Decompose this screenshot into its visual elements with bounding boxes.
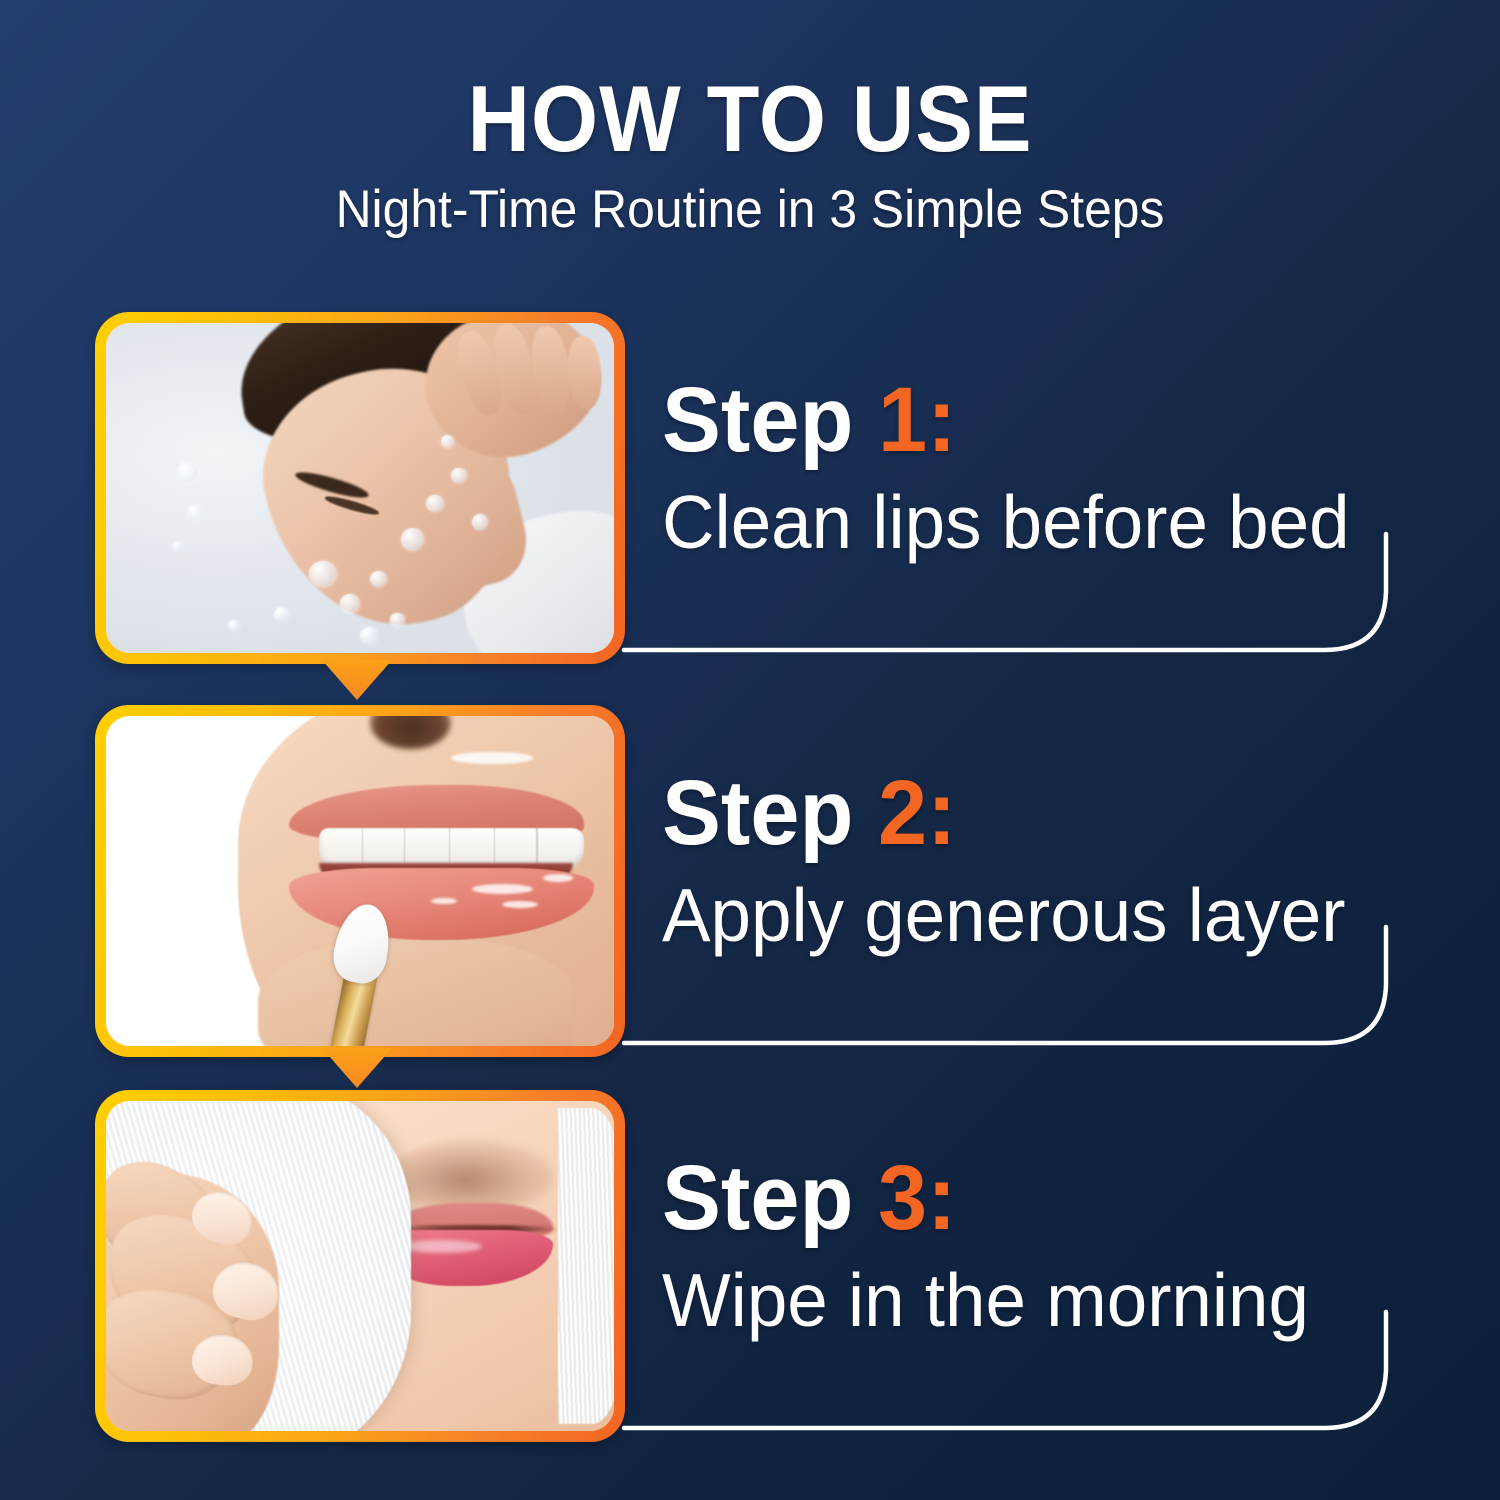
step-2-photo bbox=[106, 716, 614, 1046]
step-2-heading: Step 2: bbox=[662, 767, 956, 859]
step-1-heading: Step 1: bbox=[662, 374, 956, 466]
page-subtitle: Night-Time Routine in 3 Simple Steps bbox=[45, 182, 1455, 238]
step-1-number: 1: bbox=[878, 369, 957, 471]
step-2-text: Step 2: Apply generous layer bbox=[662, 705, 1452, 1057]
step-1-description: Clean lips before bed bbox=[662, 485, 1350, 560]
step-2-photo-card bbox=[95, 705, 625, 1057]
step-3-label: Step bbox=[662, 1147, 853, 1249]
lips-applicator-illustration bbox=[106, 716, 614, 1046]
step-1-photo-card bbox=[95, 312, 625, 664]
header: HOW TO USE Night-Time Routine in 3 Simpl… bbox=[0, 72, 1500, 238]
connector-arrow-1 bbox=[322, 660, 392, 700]
towel-wipe-illustration bbox=[106, 1101, 614, 1431]
step-2-description: Apply generous layer bbox=[662, 878, 1345, 953]
step-row-3: Step 3: Wipe in the morning bbox=[0, 1090, 1500, 1442]
step-3-photo-card bbox=[95, 1090, 625, 1442]
page-title: HOW TO USE bbox=[60, 72, 1440, 166]
step-2-underline bbox=[624, 977, 1424, 1097]
step-2-number: 2: bbox=[878, 762, 957, 864]
step-3-text: Step 3: Wipe in the morning bbox=[662, 1090, 1452, 1442]
step-2-label: Step bbox=[662, 762, 853, 864]
step-3-heading: Step 3: bbox=[662, 1152, 956, 1244]
step-1-underline bbox=[624, 584, 1424, 704]
step-1-label: Step bbox=[662, 369, 853, 471]
step-3-underline bbox=[624, 1362, 1424, 1482]
step-row-2: Step 2: Apply generous layer bbox=[0, 705, 1500, 1057]
step-3-photo bbox=[106, 1101, 614, 1431]
face-splash-illustration bbox=[106, 323, 614, 653]
step-1-photo bbox=[106, 323, 614, 653]
step-3-description: Wipe in the morning bbox=[662, 1263, 1309, 1338]
connector-arrow-2 bbox=[322, 1048, 392, 1088]
step-1-text: Step 1: Clean lips before bed bbox=[662, 312, 1452, 664]
step-3-number: 3: bbox=[878, 1147, 957, 1249]
step-row-1: Step 1: Clean lips before bed bbox=[0, 312, 1500, 664]
